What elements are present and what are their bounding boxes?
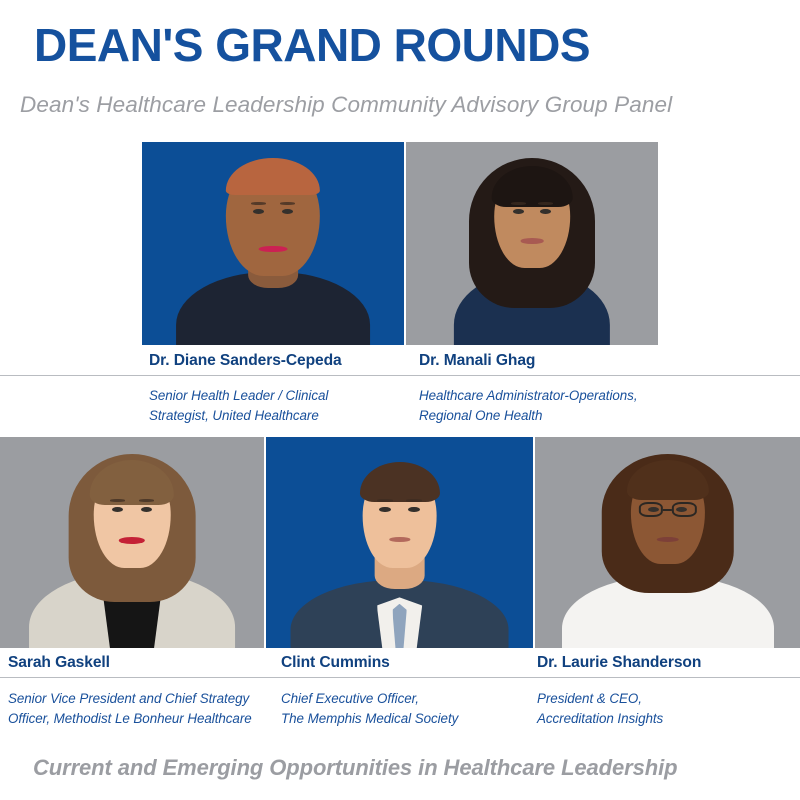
panelist-title-line: Regional One Health (419, 406, 679, 426)
panelist-name: Dr. Laurie Shanderson (537, 654, 701, 672)
panelist-title-line: Healthcare Administrator-Operations, (419, 386, 679, 406)
portrait-illustration (0, 437, 264, 648)
panelist-title: Healthcare Administrator-Operations, Reg… (419, 386, 679, 427)
panelist-name: Dr. Manali Ghag (419, 352, 535, 370)
portrait-illustration (142, 142, 404, 345)
eyeglasses-illustration (638, 502, 696, 517)
panelist-title-line: The Memphis Medical Society (281, 709, 531, 729)
panelist-photo-laurie-shanderson (535, 437, 800, 648)
page-title: DEAN'S GRAND ROUNDS (34, 22, 590, 68)
divider-row1 (0, 375, 800, 376)
panelist-photo-sarah-gaskell (0, 437, 264, 648)
panelist-photo-manali-ghag (406, 142, 658, 345)
panelist-photo-diane-sanders-cepeda (142, 142, 404, 345)
divider-row2 (0, 677, 800, 678)
panelist-title: President & CEO, Accreditation Insights (537, 689, 787, 730)
panelist-name: Clint Cummins (281, 654, 390, 672)
panelist-name: Sarah Gaskell (8, 654, 110, 672)
portrait-illustration (535, 437, 800, 648)
panelist-title-line: Senior Vice President and Chief Strategy (8, 689, 270, 709)
panelist-title: Senior Health Leader / Clinical Strategi… (149, 386, 379, 427)
panelist-title-line: Accreditation Insights (537, 709, 787, 729)
panelist-name: Dr. Diane Sanders-Cepeda (149, 352, 342, 370)
panelist-title-line: Chief Executive Officer, (281, 689, 531, 709)
panelist-title: Chief Executive Officer, The Memphis Med… (281, 689, 531, 730)
panelist-title-line: Strategist, United Healthcare (149, 406, 379, 426)
panelist-title-line: President & CEO, (537, 689, 787, 709)
panelist-title: Senior Vice President and Chief Strategy… (8, 689, 270, 730)
panelist-photo-clint-cummins (266, 437, 533, 648)
portrait-illustration (406, 142, 658, 345)
page-subtitle: Dean's Healthcare Leadership Community A… (20, 92, 672, 118)
footer-tagline: Current and Emerging Opportunities in He… (33, 755, 677, 781)
panelist-title-line: Officer, Methodist Le Bonheur Healthcare (8, 709, 270, 729)
panelist-title-line: Senior Health Leader / Clinical (149, 386, 379, 406)
portrait-illustration (266, 437, 533, 648)
